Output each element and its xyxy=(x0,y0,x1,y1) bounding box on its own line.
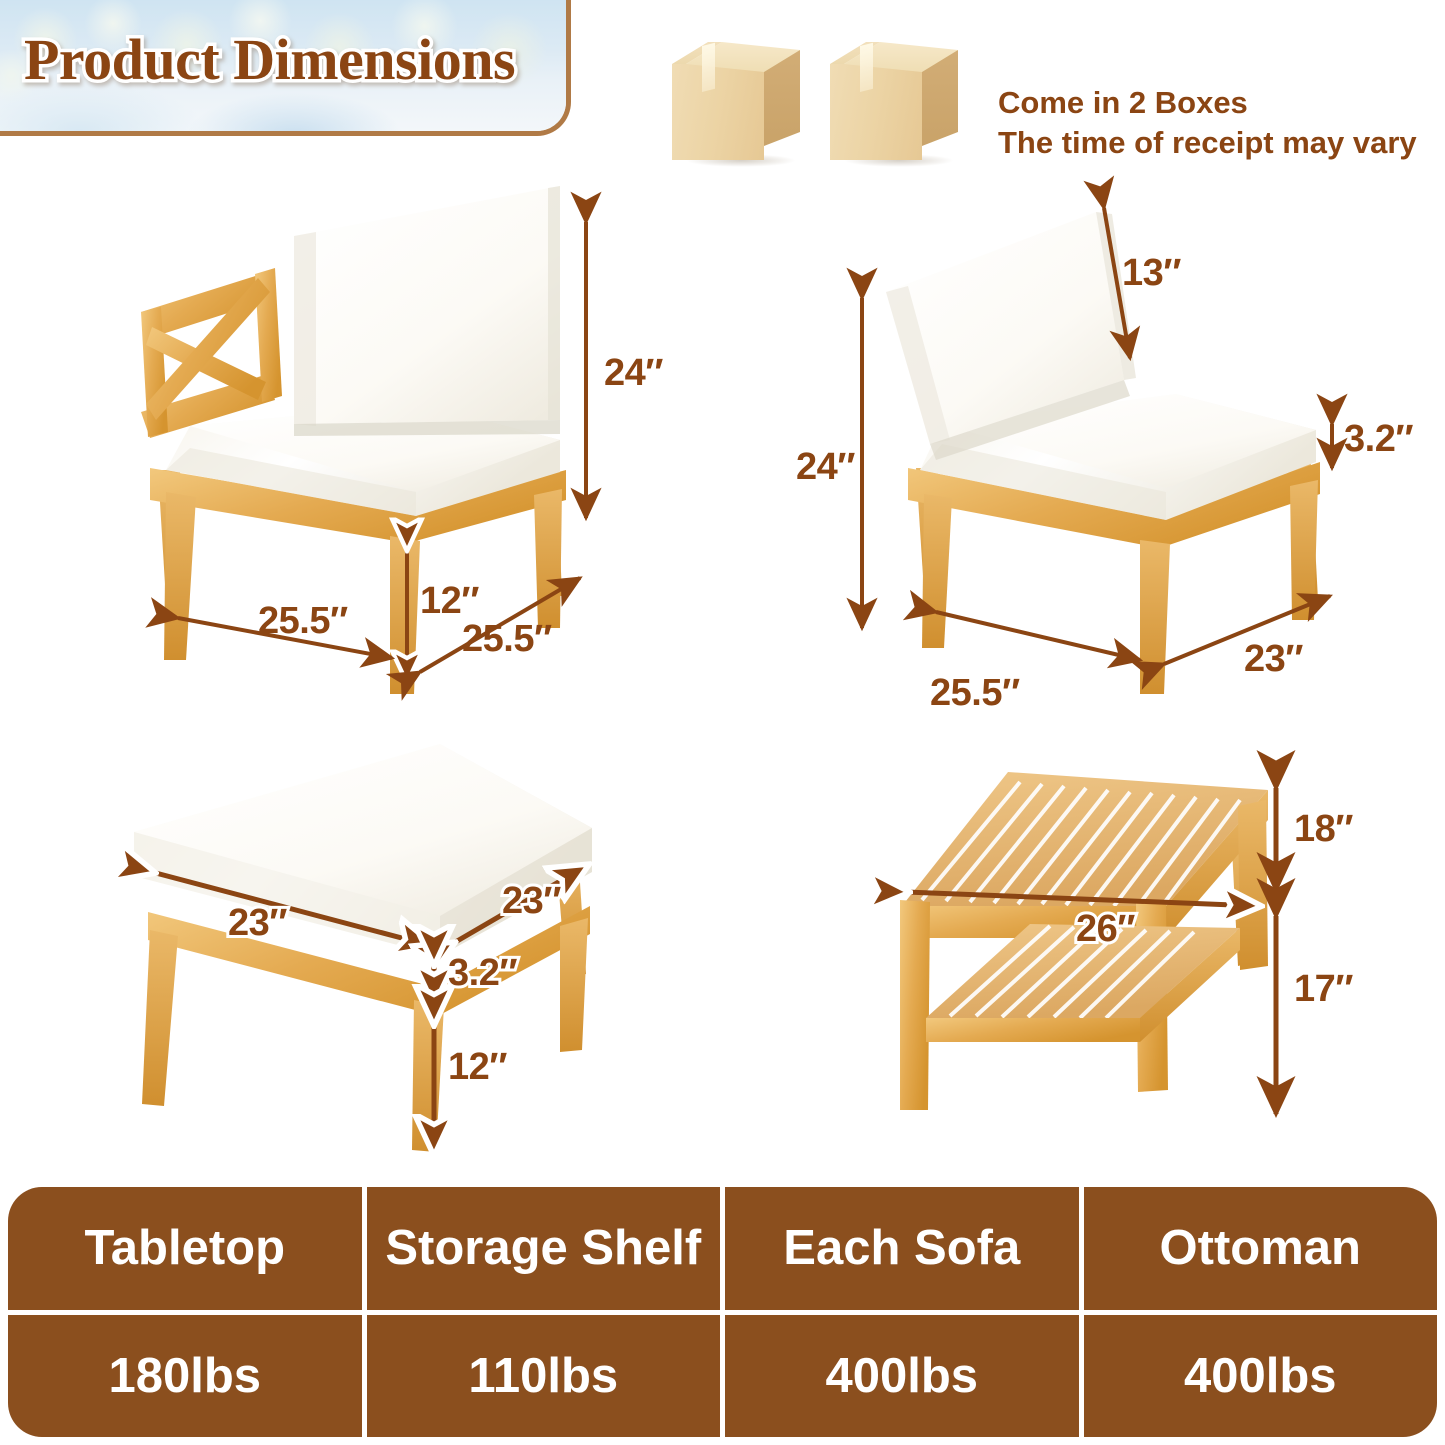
ottoman-cushion-label: 3.2″ xyxy=(448,952,517,995)
sofa2-cushion-label: 3.2″ xyxy=(1344,418,1413,461)
table-width-label: 26″ xyxy=(1076,908,1135,951)
table-value-tabletop: 180lbs xyxy=(8,1315,367,1438)
sofa1-leg-front-mid xyxy=(390,536,420,694)
table-height-label: 17″ xyxy=(1294,968,1353,1011)
sofa2-width-arrow xyxy=(936,612,1140,660)
sofa2-width-label: 25.5″ xyxy=(930,672,1020,715)
table-shelf-slats xyxy=(950,926,1194,1018)
ottoman-width-arrow xyxy=(152,872,432,946)
ottoman-leg-front-mid xyxy=(412,1000,444,1152)
table-header-storage-shelf: Storage Shelf xyxy=(367,1187,726,1310)
ottoman-leg-front-left xyxy=(142,930,178,1106)
sofa2-back-depth-label: 13″ xyxy=(1122,252,1181,295)
sofa1-leg-label: 12″ xyxy=(420,580,479,623)
box-tape-strip xyxy=(860,43,873,92)
sofa1-seat-cushion-top xyxy=(190,404,560,492)
table-apron-side xyxy=(1166,790,1268,938)
sofa1-seat-frame xyxy=(150,468,566,543)
page-title: Product Dimensions xyxy=(24,26,515,93)
table-value-storage-shelf: 110lbs xyxy=(367,1315,726,1438)
ottoman-leg-label: 12″ xyxy=(448,1046,507,1089)
sofa1-leg-front-right xyxy=(534,489,562,628)
table-leg-front-left xyxy=(900,900,930,1110)
sofa2-leg-front-mid xyxy=(1140,540,1170,694)
box-icon-2 xyxy=(830,42,958,160)
box-front-face xyxy=(830,64,922,160)
box-icon-1 xyxy=(672,42,800,160)
sofa2-height-label: 24″ xyxy=(796,446,855,489)
box-tape-strip xyxy=(702,43,715,92)
shipping-boxes-group xyxy=(672,42,992,177)
ottoman-leg-front-right xyxy=(560,918,588,1052)
sofa2-seat-cushion-top xyxy=(942,394,1316,488)
table-value-row: 180lbs 110lbs 400lbs 400lbs xyxy=(8,1315,1437,1438)
weight-capacity-table: Tabletop Storage Shelf Each Sofa Ottoman… xyxy=(8,1187,1437,1437)
table-header-tabletop: Tabletop xyxy=(8,1187,367,1310)
table-value-ottoman: 400lbs xyxy=(1084,1315,1438,1438)
header-banner: Product Dimensions xyxy=(0,0,571,136)
packaging-caption: Come in 2 Boxes The time of receipt may … xyxy=(998,83,1417,164)
table-top-surface xyxy=(902,772,1268,906)
sofa1-width-label: 25.5″ xyxy=(258,600,348,643)
sofa2-back-cushion xyxy=(886,212,1124,444)
sofa1-height-label: 24″ xyxy=(604,352,663,395)
table-shelf-rail-front xyxy=(926,1018,1140,1042)
table-depth-label: 18″ xyxy=(1294,808,1353,851)
table-value-each-sofa: 400lbs xyxy=(725,1315,1084,1438)
ottoman-depth-label: 23″ xyxy=(502,880,561,923)
ottoman-cushion-side xyxy=(134,744,592,956)
table-width-arrow xyxy=(906,892,1258,906)
table-top-slats xyxy=(922,782,1240,906)
sofa1-leg-back-left xyxy=(158,470,186,633)
sofa1-leg-front-left xyxy=(164,492,196,660)
table-header-ottoman: Ottoman xyxy=(1084,1187,1438,1310)
sofa1-leg-back-right xyxy=(534,449,562,596)
table-leg-back xyxy=(1238,800,1268,970)
sofa1-seat-cushion-side xyxy=(166,404,560,516)
table-header-each-sofa: Each Sofa xyxy=(725,1187,1084,1310)
sofa2-seat-frame xyxy=(908,462,1320,548)
table-header-row: Tabletop Storage Shelf Each Sofa Ottoman xyxy=(8,1187,1437,1315)
sofa1-x-arm-panel xyxy=(141,268,282,438)
sofa1-back-cushion xyxy=(294,186,560,424)
sofa2-depth-label: 23″ xyxy=(1244,638,1303,681)
sofa2-leg-front-right xyxy=(1290,480,1318,620)
table-leg-back-right xyxy=(1232,842,1262,966)
table-leg-front-right xyxy=(1136,902,1168,1092)
table-shelf-rail-side xyxy=(1140,928,1240,1042)
sofa2-leg-back-right xyxy=(1286,448,1318,602)
packaging-caption-line1: Come in 2 Boxes xyxy=(998,83,1417,123)
packaging-caption-line2: The time of receipt may vary xyxy=(998,123,1417,163)
sofa2-seat-cushion-side xyxy=(920,394,1316,520)
sofa2-leg-back-left xyxy=(916,468,944,622)
sofa2-leg-front-left xyxy=(922,494,952,648)
ottoman-width-label: 23″ xyxy=(228,902,287,945)
box-front-face xyxy=(672,64,764,160)
sofa1-depth-label: 25.5″ xyxy=(462,618,552,661)
